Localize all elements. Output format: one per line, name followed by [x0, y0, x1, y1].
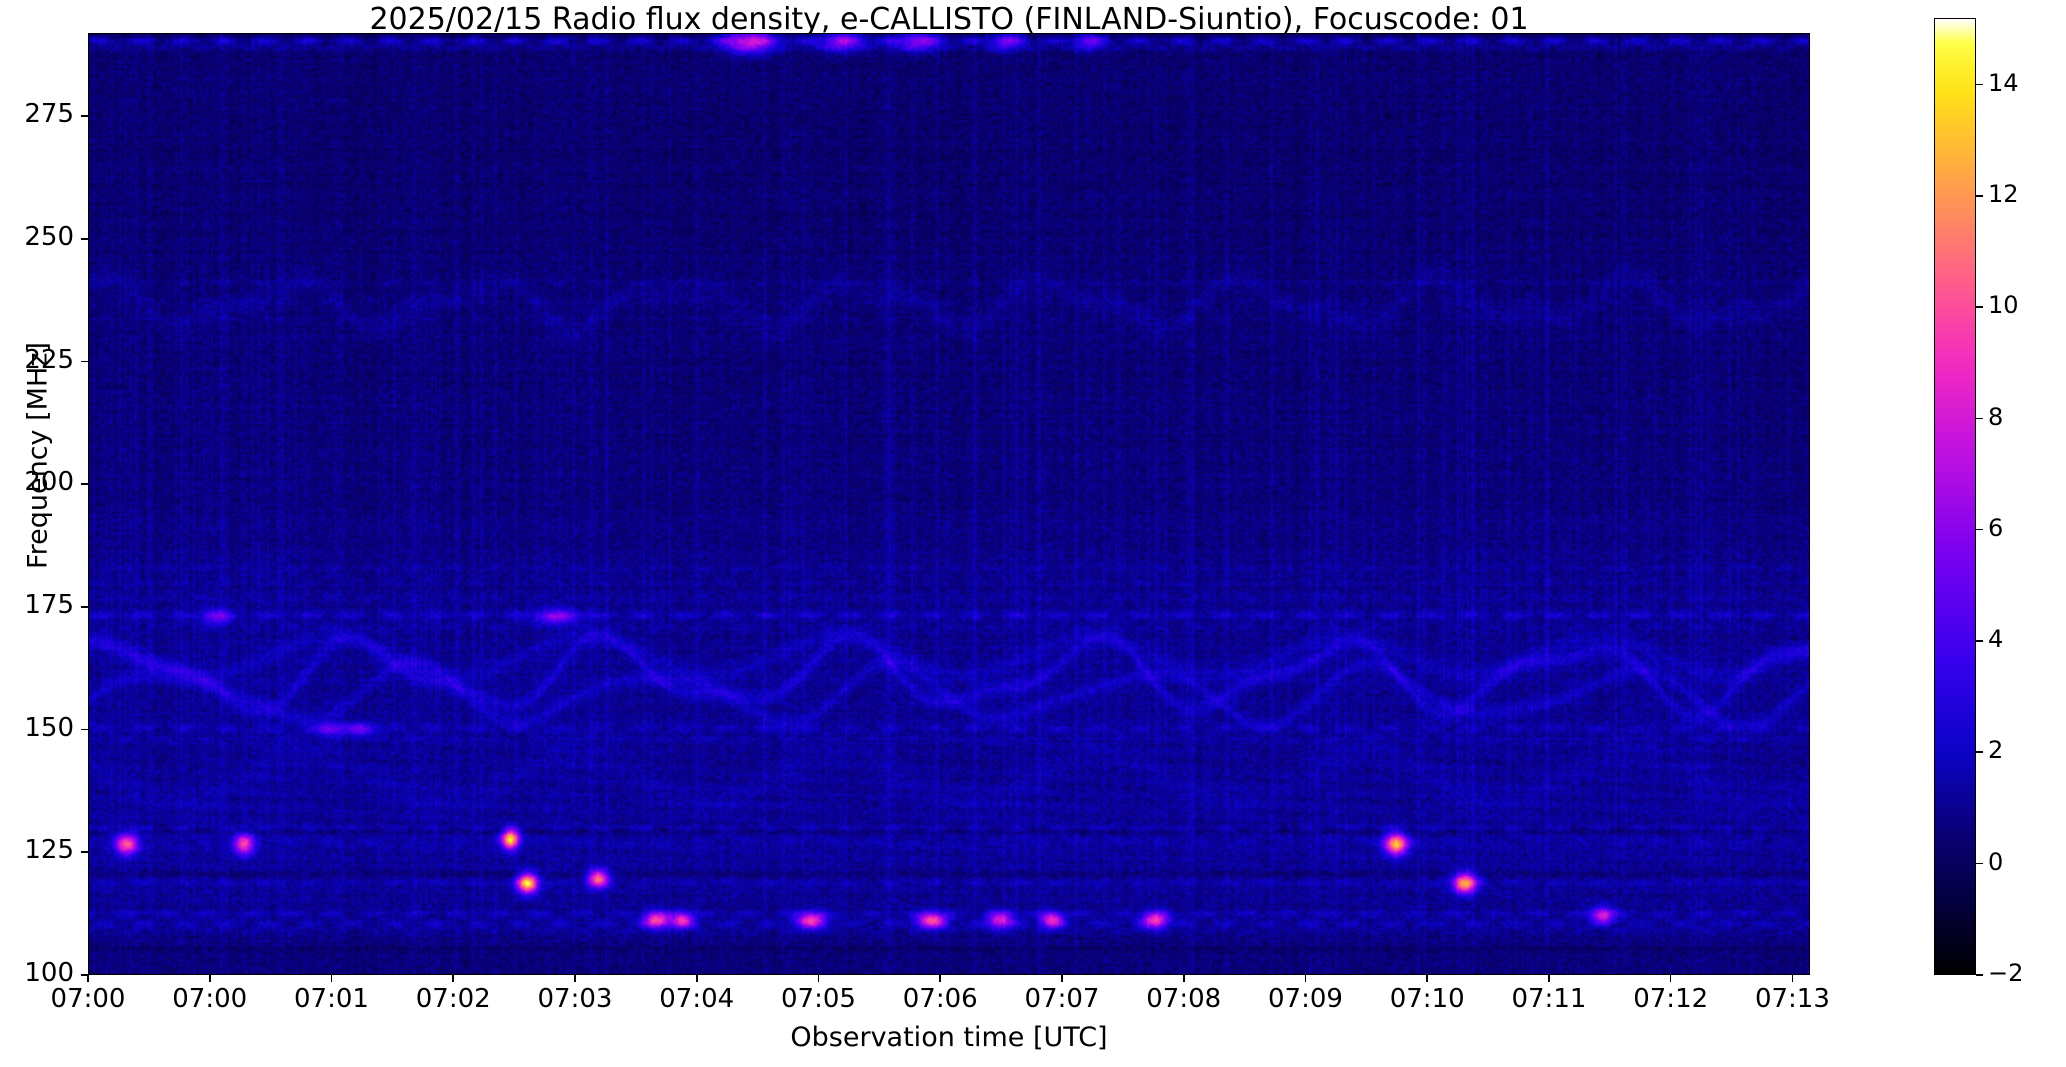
y-tick-mark	[81, 606, 88, 608]
colorbar-gradient	[1934, 18, 1976, 975]
colorbar-tick-mark	[1976, 195, 1983, 197]
colorbar-tick-label: 4	[1988, 625, 2003, 653]
x-tick-label: 07:09	[1235, 984, 1375, 1014]
x-tick-label: 07:04	[627, 984, 767, 1014]
colorbar-tick-mark	[1976, 863, 1983, 865]
y-tick-label: 125	[24, 835, 74, 865]
colorbar: 14121086420−2	[1934, 18, 1976, 975]
spectrogram-plot-area	[88, 33, 1810, 975]
x-tick-label: 07:00	[140, 984, 280, 1014]
colorbar-tick-mark	[1976, 974, 1983, 976]
x-tick-mark	[1670, 975, 1672, 982]
colorbar-tick-mark	[1976, 751, 1983, 753]
y-tick-mark	[81, 851, 88, 853]
x-tick-mark	[696, 975, 698, 982]
x-tick-mark	[87, 975, 89, 982]
y-tick-mark	[81, 361, 88, 363]
x-tick-mark	[1061, 975, 1063, 982]
x-tick-mark	[452, 975, 454, 982]
x-tick-label: 07:08	[1114, 984, 1254, 1014]
y-tick-mark	[81, 238, 88, 240]
colorbar-tick-mark	[1976, 306, 1983, 308]
y-tick-mark	[81, 483, 88, 485]
x-tick-label: 07:01	[261, 984, 401, 1014]
x-tick-mark	[574, 975, 576, 982]
x-tick-label: 07:02	[383, 984, 523, 1014]
x-tick-mark	[1305, 975, 1307, 982]
x-tick-mark	[1183, 975, 1185, 982]
colorbar-tick-label: 10	[1988, 291, 2019, 319]
y-tick-mark	[81, 115, 88, 117]
x-tick-label: 07:07	[992, 984, 1132, 1014]
colorbar-tick-mark	[1976, 640, 1983, 642]
spectrogram-image	[89, 34, 1809, 974]
x-tick-mark	[1792, 975, 1794, 982]
colorbar-tick-label: 6	[1988, 514, 2003, 542]
colorbar-tick-label: 14	[1988, 69, 2019, 97]
x-tick-label: 07:06	[870, 984, 1010, 1014]
x-tick-mark	[209, 975, 211, 982]
spectrogram-figure: 2025/02/15 Radio flux density, e-CALLIST…	[0, 0, 2066, 1067]
colorbar-tick-label: 0	[1988, 848, 2003, 876]
x-tick-label: 07:00	[18, 984, 158, 1014]
colorbar-tick-label: 12	[1988, 180, 2019, 208]
x-tick-mark	[818, 975, 820, 982]
page-title: 2025/02/15 Radio flux density, e-CALLIST…	[88, 2, 1810, 37]
colorbar-tick-mark	[1976, 418, 1983, 420]
x-tick-mark	[1426, 975, 1428, 982]
y-tick-label: 275	[24, 99, 74, 129]
x-tick-mark	[331, 975, 333, 982]
x-tick-label: 07:03	[505, 984, 645, 1014]
colorbar-tick-mark	[1976, 529, 1983, 531]
colorbar-tick-label: 2	[1988, 736, 2003, 764]
y-axis-label: Frequency [MHz]	[23, 156, 54, 756]
colorbar-tick-label: −2	[1988, 959, 2023, 987]
x-tick-label: 07:11	[1479, 984, 1619, 1014]
x-tick-mark	[939, 975, 941, 982]
x-tick-label: 07:10	[1357, 984, 1497, 1014]
colorbar-tick-mark	[1976, 84, 1983, 86]
x-tick-mark	[1548, 975, 1550, 982]
x-tick-label: 07:12	[1601, 984, 1741, 1014]
y-tick-mark	[81, 729, 88, 731]
x-tick-label: 07:05	[748, 984, 888, 1014]
x-tick-label: 07:13	[1722, 984, 1862, 1014]
x-axis-label: Observation time [UTC]	[88, 1022, 1810, 1053]
colorbar-tick-label: 8	[1988, 403, 2003, 431]
